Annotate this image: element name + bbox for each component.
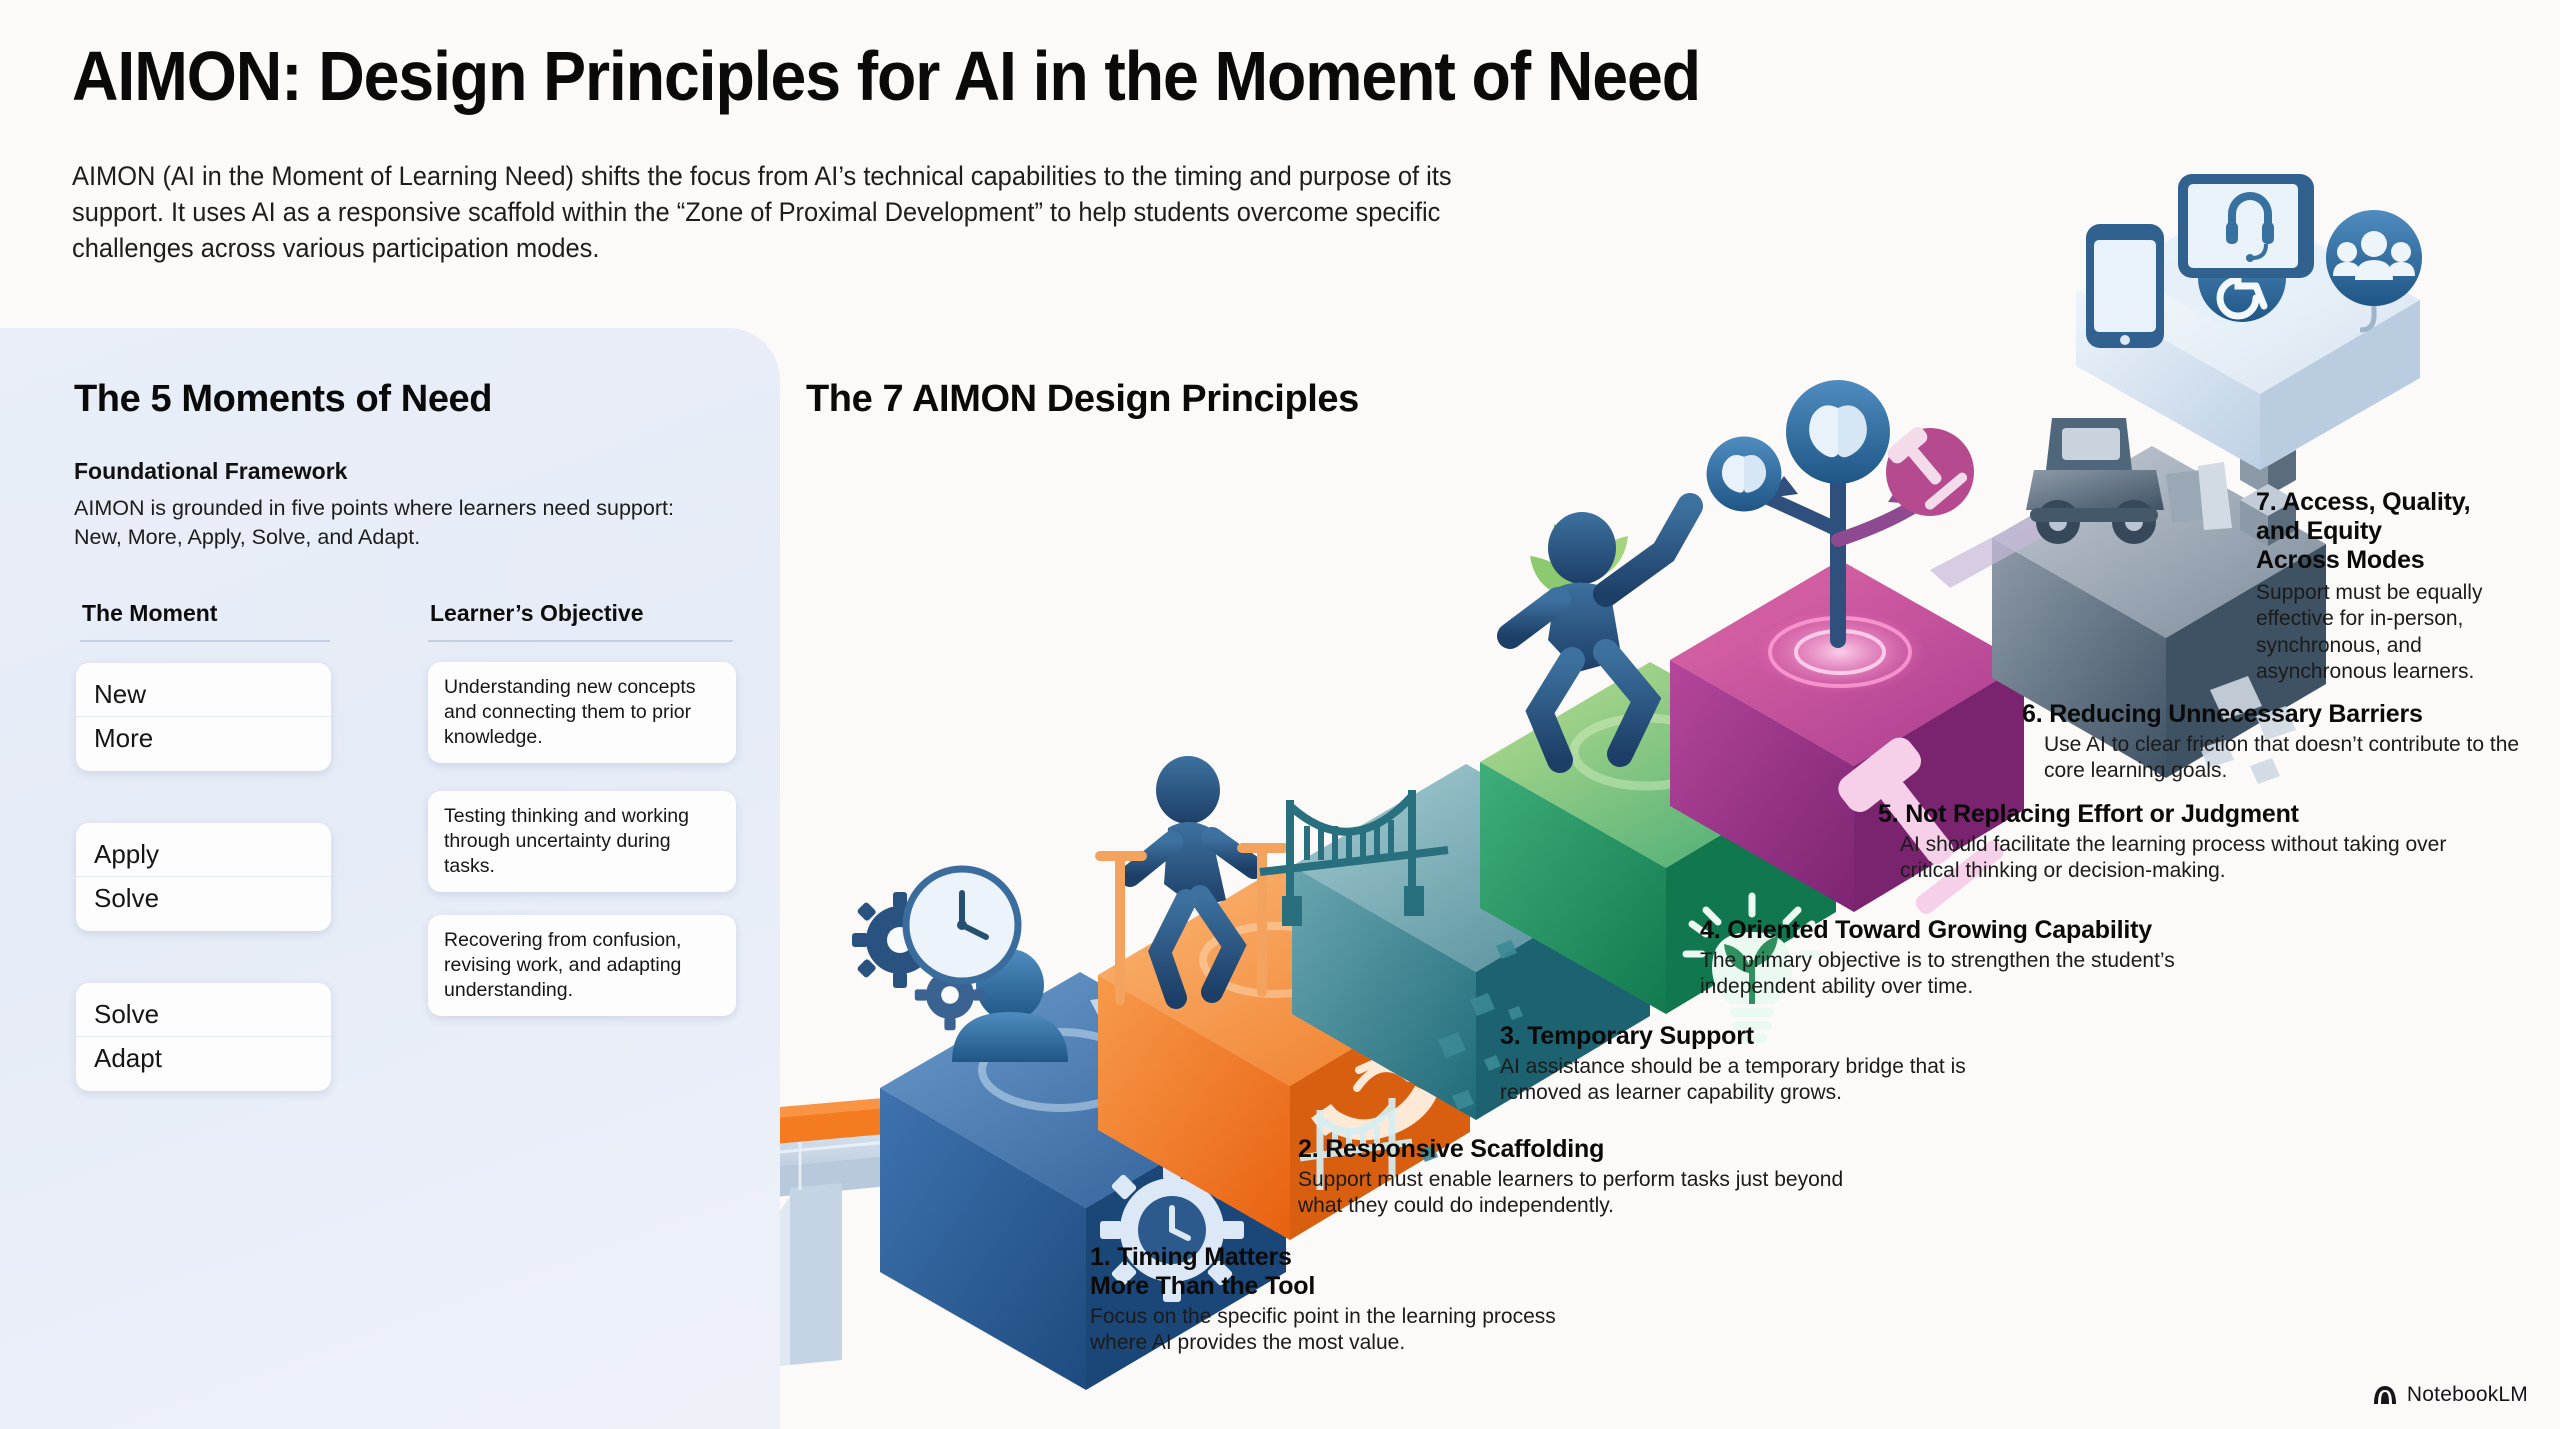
principle-title: 5. Not Replacing Effort or Judgment	[1878, 800, 2458, 829]
principle-body: Support must be equally effective for in…	[2256, 580, 2556, 685]
people-group-icon	[2326, 210, 2422, 306]
gear-icon	[852, 892, 948, 988]
objective-card[interactable]: Recovering from confusion, revising work…	[428, 915, 736, 1016]
moment-label: New	[76, 673, 331, 716]
principle-1: 1. Timing MattersMore Than the Tool Focu…	[1090, 1243, 1610, 1357]
seated-person-icon	[952, 949, 1068, 1062]
walking-person-icon	[1100, 756, 1284, 1000]
principle-body: Support must enable learners to perform …	[1298, 1167, 1858, 1220]
principle-2: 2. Responsive Scaffolding Support must e…	[1298, 1135, 1858, 1220]
step-block-7	[2076, 174, 2560, 490]
principle-5: 5. Not Replacing Effort or Judgment AI s…	[1878, 800, 2458, 885]
notebooklm-logo-icon	[2372, 1384, 2398, 1406]
page-subtitle: AIMON (AI in the Moment of Learning Need…	[72, 158, 1512, 266]
column-header-moment: The Moment	[82, 600, 217, 627]
principle-title: 6. Reducing Unnecessary Barriers	[2022, 700, 2547, 729]
bulldozer-icon	[2026, 418, 2232, 544]
watermark-label: NotebookLM	[2407, 1383, 2528, 1407]
moment-card[interactable]: Solve Adapt	[76, 983, 331, 1091]
principle-body: Use AI to clear friction that doesn’t co…	[2022, 732, 2547, 785]
column-rule-moment	[80, 640, 330, 642]
plant-sprout-icon	[1530, 524, 1628, 640]
smartphone-icon	[2086, 224, 2164, 348]
moment-label: Adapt	[76, 1036, 331, 1080]
principle-title: 3. Temporary Support	[1500, 1022, 2040, 1051]
running-person-icon	[1510, 506, 1690, 760]
column-header-objective: Learner’s Objective	[430, 600, 644, 627]
moment-label: More	[76, 716, 331, 760]
infographic-canvas: AIMON: Design Principles for AI in the M…	[0, 0, 2560, 1429]
step-block-3	[1260, 764, 1650, 1190]
brain-icon	[1707, 437, 1782, 512]
decision-arrows-icon	[1707, 380, 1974, 640]
moment-label: Apply	[76, 833, 331, 876]
tablet-headset-icon	[2178, 174, 2314, 278]
brain-icon	[1786, 380, 1890, 484]
page-title: AIMON: Design Principles for AI in the M…	[72, 36, 1700, 116]
moment-card[interactable]: Apply Solve	[76, 823, 331, 931]
moment-label: Solve	[76, 993, 331, 1036]
accessibility-icon	[2198, 234, 2286, 322]
principle-4: 4. Oriented Toward Growing Capability Th…	[1700, 916, 2260, 1001]
principle-6: 6. Reducing Unnecessary Barriers Use AI …	[2022, 700, 2547, 785]
objective-card[interactable]: Testing thinking and working through unc…	[428, 791, 736, 892]
moment-label: Solve	[76, 876, 331, 920]
moments-panel-description: AIMON is grounded in five points where l…	[74, 494, 724, 551]
principle-title: 2. Responsive Scaffolding	[1298, 1135, 1858, 1164]
helping-hand-icon	[1311, 1034, 1437, 1140]
objective-card[interactable]: Understanding new concepts and connectin…	[428, 662, 736, 763]
gavel-badge-icon	[1882, 422, 1974, 516]
moment-card[interactable]: New More	[76, 663, 331, 771]
principle-title: 1. Timing MattersMore Than the Tool	[1090, 1243, 1610, 1301]
moments-panel-subheading: Foundational Framework	[74, 458, 347, 485]
column-rule-objective	[428, 640, 733, 642]
moments-panel-heading: The 5 Moments of Need	[74, 378, 492, 421]
principle-title: 4. Oriented Toward Growing Capability	[1700, 916, 2260, 945]
principle-body: Focus on the specific point in the learn…	[1090, 1304, 1610, 1357]
principle-body: AI should facilitate the learning proces…	[1878, 832, 2458, 885]
principles-panel-heading: The 7 AIMON Design Principles	[806, 378, 1359, 421]
principle-title: 7. Access, Quality,and EquityAcross Mode…	[2256, 488, 2556, 575]
principle-3: 3. Temporary Support AI assistance shoul…	[1500, 1022, 2040, 1107]
notebooklm-watermark: NotebookLM	[2372, 1383, 2528, 1407]
principle-body: AI assistance should be a temporary brid…	[1500, 1054, 2040, 1107]
clock-icon	[906, 869, 1018, 981]
principle-7: 7. Access, Quality,and EquityAcross Mode…	[2256, 488, 2556, 685]
suspension-bridge-icon	[1260, 790, 1448, 910]
principle-body: The primary objective is to strengthen t…	[1700, 948, 2260, 1001]
gear-icon	[915, 960, 985, 1030]
